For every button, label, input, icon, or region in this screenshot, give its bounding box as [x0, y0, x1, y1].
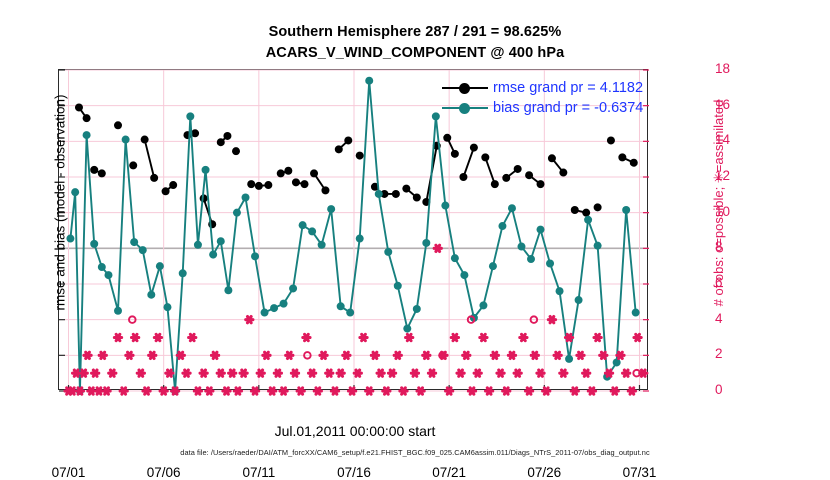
obs-assimilated-marker [269, 388, 276, 394]
obs-assimilated-marker [348, 388, 355, 394]
obs-assimilated-marker [234, 388, 241, 394]
obs-assimilated-marker [80, 370, 87, 376]
x-tick-label: 07/01 [24, 465, 114, 480]
data-point [489, 262, 497, 270]
data-point [308, 227, 316, 235]
data-point [392, 190, 400, 198]
obs-assimilated-marker [331, 388, 338, 394]
data-point [162, 187, 170, 195]
obs-assimilated-marker [377, 370, 384, 376]
data-point [451, 150, 459, 158]
legend-label-bias: bias grand pr = -0.6374 [493, 100, 643, 116]
obs-assimilated-marker [583, 370, 590, 376]
obs-assimilated-marker [406, 334, 413, 340]
obs-assimilated-marker [132, 334, 139, 340]
data-point [584, 216, 592, 224]
legend-item-bias[interactable]: bias grand pr = -0.6374 [442, 98, 643, 118]
data-file-caption: data file: /Users/raeder/DAI/ATM_forcXX/… [0, 448, 830, 457]
obs-assimilated-marker [623, 370, 630, 376]
data-point [251, 252, 259, 260]
data-point [527, 255, 535, 263]
data-point [310, 169, 318, 177]
obs-assimilated-marker [84, 352, 91, 358]
obs-assimilated-marker [417, 388, 424, 394]
data-point [66, 235, 74, 243]
data-point [83, 131, 91, 139]
data-point [130, 238, 138, 246]
data-point [479, 301, 487, 309]
y-tick-label-right: 18 [715, 61, 755, 76]
data-point [150, 174, 158, 182]
obs-assimilated-marker [206, 388, 213, 394]
data-point [571, 206, 579, 214]
y-tick-label-right: 14 [715, 132, 755, 147]
data-point [525, 171, 533, 179]
bias-legend-marker [459, 103, 470, 114]
obs-assimilated-marker [543, 388, 550, 394]
plot-canvas [59, 70, 649, 391]
obs-assimilated-marker [149, 352, 156, 358]
obs-assimilated-marker [320, 352, 327, 358]
data-point [413, 194, 421, 202]
x-tick-label: 07/16 [309, 465, 399, 480]
data-point [232, 147, 240, 155]
obs-assimilated-marker [343, 352, 350, 358]
obs-assimilated-marker [309, 370, 316, 376]
series-bias [66, 77, 639, 395]
data-point [481, 153, 489, 161]
data-point [289, 284, 297, 292]
data-point [217, 237, 225, 245]
x-axis-label: Jul.01,2011 00:00:00 start [0, 423, 710, 439]
obs-assimilated-marker [634, 334, 641, 340]
obs-assimilated-marker [229, 370, 236, 376]
obs-assimilated-marker [434, 245, 441, 251]
obs-assimilated-marker [520, 334, 527, 340]
obs-assimilated-marker [451, 334, 458, 340]
rmse-legend-swatch [442, 87, 488, 89]
data-point [402, 185, 410, 193]
x-tick-label: 07/31 [594, 465, 684, 480]
data-point [327, 205, 335, 213]
data-point [284, 167, 292, 175]
data-point [459, 173, 467, 181]
obs-assimilated-marker [286, 352, 293, 358]
data-point [114, 307, 122, 315]
data-point [375, 190, 383, 198]
data-point [299, 221, 307, 229]
data-point [517, 243, 525, 251]
y-tick-label-right: 6 [715, 275, 755, 290]
data-point [502, 174, 510, 182]
data-point [632, 309, 640, 317]
data-point [261, 309, 269, 317]
obs-assimilated-marker [600, 352, 607, 358]
obs-assimilated-marker [548, 317, 555, 323]
data-point [498, 222, 506, 230]
obs-assimilated-marker [423, 352, 430, 358]
obs-assimilated-marker [337, 370, 344, 376]
bias-line [70, 81, 635, 391]
obs-assimilated-marker [503, 388, 510, 394]
obs-assimilated-marker [577, 352, 584, 358]
data-point [90, 240, 98, 248]
obs-assimilated-marker [400, 388, 407, 394]
data-point [75, 103, 83, 111]
obs-assimilated-marker [588, 388, 595, 394]
obs-assimilated-marker [628, 388, 635, 394]
bias-legend-swatch [442, 107, 488, 109]
obs-assimilated-marker [554, 352, 561, 358]
title-line-2: ACARS_V_WIND_COMPONENT @ 400 hPa [0, 43, 830, 64]
obs-assimilated-marker [508, 352, 515, 358]
obs-assimilated-marker [211, 352, 218, 358]
data-point [630, 159, 638, 167]
obs-assimilated-marker [183, 370, 190, 376]
obs-assimilated-marker [514, 370, 521, 376]
data-point [270, 304, 278, 312]
y-tick-label-right: 4 [715, 311, 755, 326]
obs-assimilated-marker [457, 370, 464, 376]
obs-assimilated-marker [171, 388, 178, 394]
obs-assimilated-marker [463, 352, 470, 358]
data-point [209, 251, 217, 259]
obs-assimilated-marker [531, 352, 538, 358]
obs-assimilated-marker [565, 334, 572, 340]
data-point [508, 204, 516, 212]
data-point [242, 194, 250, 202]
data-point [582, 209, 590, 217]
rmse-segment [145, 140, 155, 178]
data-point [618, 153, 626, 161]
figure-root: Southern Hemisphere 287 / 291 = 98.625% … [0, 0, 830, 470]
data-point [277, 169, 285, 177]
obs-assimilated-marker [326, 370, 333, 376]
data-point [622, 206, 630, 214]
data-point [98, 263, 106, 271]
data-point [546, 259, 554, 267]
obs-assimilated-marker [486, 388, 493, 394]
obs-assimilated-marker [446, 388, 453, 394]
data-point [514, 165, 522, 173]
obs-assimilated-marker [428, 370, 435, 376]
obs-assimilated-marker [360, 334, 367, 340]
obs-assimilated-marker [354, 370, 361, 376]
data-point [537, 226, 545, 234]
data-point [156, 262, 164, 270]
y-tick-label-right: 10 [715, 204, 755, 219]
data-point [318, 241, 326, 249]
data-point [141, 136, 149, 144]
data-point [147, 291, 155, 299]
obs-assimilated-marker [611, 388, 618, 394]
rmse-segment [485, 157, 495, 184]
plot-area: rmse and bias (model - observation) # of… [58, 69, 648, 390]
obs-assimilated-marker [246, 317, 253, 323]
x-tick-label: 07/11 [214, 465, 304, 480]
data-point [344, 136, 352, 144]
data-point [129, 161, 137, 169]
obs-assimilated-marker [617, 352, 624, 358]
obs-assimilated-marker [189, 334, 196, 340]
obs-assimilated-marker [366, 388, 373, 394]
data-point [264, 181, 272, 189]
data-point [186, 112, 194, 120]
data-point [394, 282, 402, 290]
data-point [169, 181, 177, 189]
data-point [607, 136, 615, 144]
x-tick-label: 07/06 [119, 465, 209, 480]
data-point [413, 305, 421, 313]
data-point [594, 242, 602, 250]
data-point [441, 202, 449, 210]
y-tick-label-right: 12 [715, 168, 755, 183]
data-point [139, 246, 147, 254]
obs-assimilated-marker [160, 388, 167, 394]
title-line-1: Southern Hemisphere 287 / 291 = 98.625% [0, 22, 830, 43]
data-point [202, 166, 210, 174]
obs-assimilated-marker [76, 388, 83, 394]
data-point [594, 203, 602, 211]
obs-assimilated-marker [571, 388, 578, 394]
data-point [491, 180, 499, 188]
data-point [384, 248, 392, 256]
obs-assimilated-marker [217, 370, 224, 376]
data-point [114, 121, 122, 129]
obs-assimilated-marker [257, 370, 264, 376]
obs-assimilated-marker [240, 370, 247, 376]
data-point [559, 169, 567, 177]
series-possible [129, 316, 640, 376]
data-point [122, 136, 130, 144]
obs-assimilated-marker [154, 334, 161, 340]
obs-assimilated-marker [263, 352, 270, 358]
obs-assimilated-marker [480, 334, 487, 340]
data-point [301, 180, 309, 188]
data-point [280, 300, 288, 308]
data-point [422, 239, 430, 247]
obs-assimilated-marker [280, 388, 287, 394]
chart-title: Southern Hemisphere 287 / 291 = 98.625% … [0, 22, 830, 64]
data-point [460, 271, 468, 279]
obs-assimilated-marker [388, 370, 395, 376]
y-tick-label-right: 8 [715, 239, 755, 254]
data-point [217, 138, 225, 146]
obs-assimilated-marker [560, 370, 567, 376]
obs-assimilated-marker [103, 388, 110, 394]
obs-assimilated-marker [468, 388, 475, 394]
data-point [321, 186, 329, 194]
data-point [365, 77, 373, 85]
rmse-segment [463, 148, 473, 177]
data-point [255, 182, 263, 190]
obs-assimilated-marker [143, 388, 150, 394]
legend-item-rmse[interactable]: rmse grand pr = 4.1182 [442, 78, 643, 98]
data-point [292, 178, 300, 186]
data-point [194, 241, 202, 249]
obs-assimilated-marker [137, 370, 144, 376]
obs-assimilated-marker [274, 370, 281, 376]
data-point [223, 132, 231, 140]
data-point [432, 112, 440, 120]
y-tick-label-right: 16 [715, 97, 755, 112]
data-point [451, 254, 459, 262]
x-tick-label: 07/21 [404, 465, 494, 480]
obs-assimilated-marker [126, 352, 133, 358]
data-point [83, 114, 91, 122]
data-point [98, 169, 106, 177]
data-point [335, 145, 343, 153]
obs-assimilated-marker [371, 352, 378, 358]
obs-assimilated-marker [109, 370, 116, 376]
obs-assimilated-marker [114, 334, 121, 340]
obs-assimilated-marker [166, 370, 173, 376]
obs-assimilated-marker [303, 334, 310, 340]
rmse-legend-marker [459, 83, 470, 94]
data-point [233, 209, 241, 217]
data-point [356, 152, 364, 160]
data-point [179, 269, 187, 277]
obs-assimilated-marker [92, 370, 99, 376]
obs-assimilated-marker [394, 352, 401, 358]
legend-label-rmse: rmse grand pr = 4.1182 [493, 80, 643, 96]
legend: rmse grand pr = 4.1182 bias grand pr = -… [442, 78, 643, 118]
data-point [356, 235, 364, 243]
obs-assimilated-marker [251, 388, 258, 394]
data-point [247, 180, 255, 188]
obs-assimilated-marker [120, 388, 127, 394]
obs-assimilated-marker [497, 370, 504, 376]
obs-assimilated-marker [594, 334, 601, 340]
obs-assimilated-marker [99, 352, 106, 358]
data-point [470, 144, 478, 152]
data-point [224, 286, 232, 294]
data-point [565, 355, 573, 363]
obs-assimilated-marker [291, 370, 298, 376]
y-axis-label-left: rmse and bias (model - observation) [53, 0, 68, 418]
obs-assimilated-marker [223, 388, 230, 394]
data-point [163, 303, 171, 311]
data-point [71, 188, 79, 196]
x-tick-label: 07/26 [499, 465, 589, 480]
data-point [556, 287, 564, 295]
data-point [537, 180, 545, 188]
obs-assimilated-marker [525, 388, 532, 394]
obs-assimilated-marker [491, 352, 498, 358]
data-point [346, 309, 354, 317]
data-point [403, 325, 411, 333]
data-point [337, 302, 345, 310]
obs-assimilated-marker [411, 370, 418, 376]
obs-assimilated-marker [200, 370, 207, 376]
obs-assimilated-marker [194, 388, 201, 394]
data-point [548, 154, 556, 162]
data-point [443, 134, 451, 142]
data-point [104, 271, 112, 279]
y-tick-label-right: 0 [715, 382, 755, 397]
obs-assimilated-marker [177, 352, 184, 358]
obs-assimilated-marker [605, 370, 612, 376]
series-rmse [75, 103, 638, 228]
obs-assimilated-marker [314, 388, 321, 394]
y-tick-label-right: 2 [715, 346, 755, 361]
obs-assimilated-marker [297, 388, 304, 394]
obs-assimilated-marker [474, 370, 481, 376]
obs-assimilated-marker [383, 388, 390, 394]
data-point [90, 166, 98, 174]
obs-assimilated-marker [537, 370, 544, 376]
data-point [575, 296, 583, 304]
